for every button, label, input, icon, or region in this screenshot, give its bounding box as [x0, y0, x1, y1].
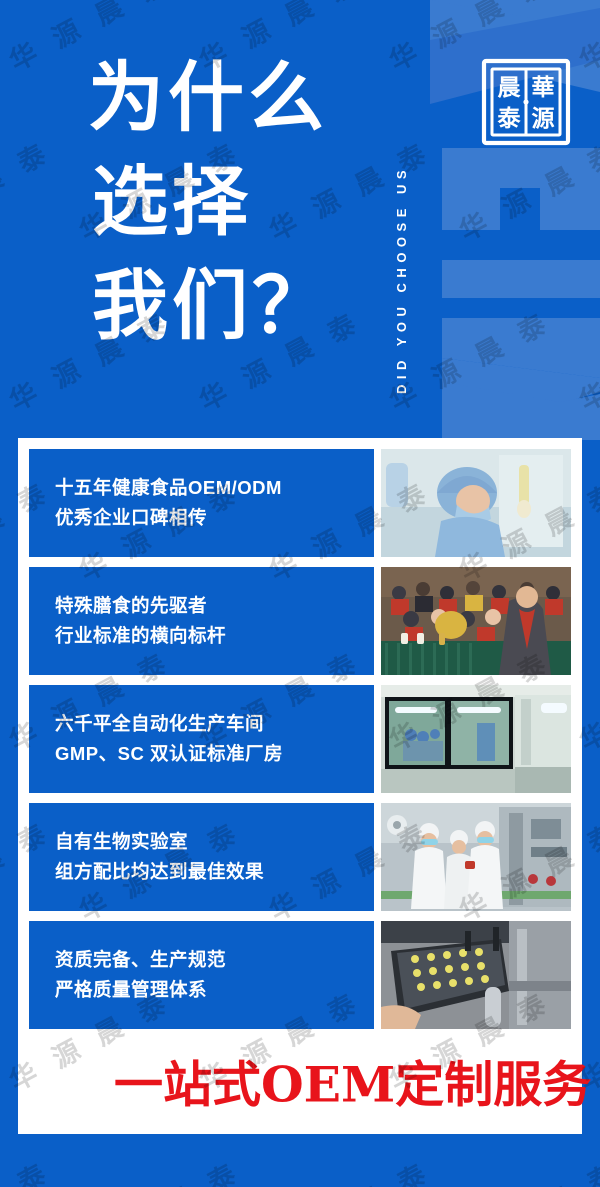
feature-text-card: 十五年健康食品OEM/ODM 优秀企业口碑相传 [29, 449, 374, 557]
vertical-tagline: DID YOU CHOOSE US [394, 24, 420, 394]
feature-line-2: 优秀企业口碑相传 [55, 503, 374, 533]
feature-text-card: 六千平全自动化生产车间 GMP、SC 双认证标准厂房 [29, 685, 374, 793]
list-item[interactable]: 六千平全自动化生产车间 GMP、SC 双认证标准厂房 [29, 685, 571, 793]
page-title: 为什么 选择 我们？ [88, 46, 388, 358]
feature-line-2: 严格质量管理体系 [55, 975, 374, 1005]
feature-photo [381, 803, 571, 911]
watermark-text: 华 源 晨 泰 [451, 1150, 600, 1187]
feature-line-1: 六千平全自动化生产车间 [55, 709, 374, 739]
feature-photo [381, 449, 571, 557]
feature-line-1: 十五年健康食品OEM/ODM [55, 473, 374, 503]
svg-text:晨: 晨 [498, 74, 522, 101]
watermark-text: 华 源 晨 泰 [0, 1150, 57, 1187]
feature-text-card: 特殊膳食的先驱者 行业标准的横向标杆 [29, 567, 374, 675]
feature-photo [381, 567, 571, 675]
svg-text:華: 華 [532, 74, 555, 101]
title-line-3: 我们？ [92, 254, 388, 358]
svg-text:源: 源 [532, 105, 555, 132]
feature-list: 十五年健康食品OEM/ODM 优秀企业口碑相传 [29, 449, 571, 1027]
poster-root: 为什么 选择 我们？ DID YOU CHOOSE US 晨 華 泰 源 [0, 0, 600, 1187]
feature-line-1: 自有生物实验室 [55, 827, 374, 857]
feature-photo [381, 685, 571, 793]
title-line-2: 选择 [92, 150, 388, 254]
watermark-text: 华 源 晨 泰 [71, 1150, 247, 1187]
content-frame: 十五年健康食品OEM/ODM 优秀企业口碑相传 [18, 438, 582, 1134]
list-item[interactable]: 自有生物实验室 组方配比均达到最佳效果 [29, 803, 571, 911]
list-item[interactable]: 十五年健康食品OEM/ODM 优秀企业口碑相传 [29, 449, 571, 557]
title-line-1: 为什么 [88, 46, 388, 150]
list-item[interactable]: 资质完备、生产规范 严格质量管理体系 [29, 921, 571, 1029]
feature-line-2: 行业标准的横向标杆 [55, 621, 374, 651]
footer-banner: 晨 華 泰 源 一站式OEM定制服务 [18, 1038, 582, 1123]
poster-header: 为什么 选择 我们？ DID YOU CHOOSE US 晨 華 泰 源 [0, 0, 600, 440]
watermark-text: 华 源 晨 泰 [261, 1150, 437, 1187]
feature-line-1: 特殊膳食的先驱者 [55, 591, 374, 621]
feature-line-1: 资质完备、生产规范 [55, 945, 374, 975]
svg-text:泰: 泰 [497, 105, 522, 132]
company-seal-icon: 晨 華 泰 源 [478, 54, 574, 150]
list-item[interactable]: 特殊膳食的先驱者 行业标准的横向标杆 [29, 567, 571, 675]
footer-slogan: 一站式OEM定制服务 [114, 1045, 591, 1116]
feature-photo [381, 921, 571, 1029]
feature-text-card: 资质完备、生产规范 严格质量管理体系 [29, 921, 374, 1029]
feature-line-2: GMP、SC 双认证标准厂房 [55, 739, 374, 769]
feature-line-2: 组方配比均达到最佳效果 [55, 857, 374, 887]
feature-text-card: 自有生物实验室 组方配比均达到最佳效果 [29, 803, 374, 911]
